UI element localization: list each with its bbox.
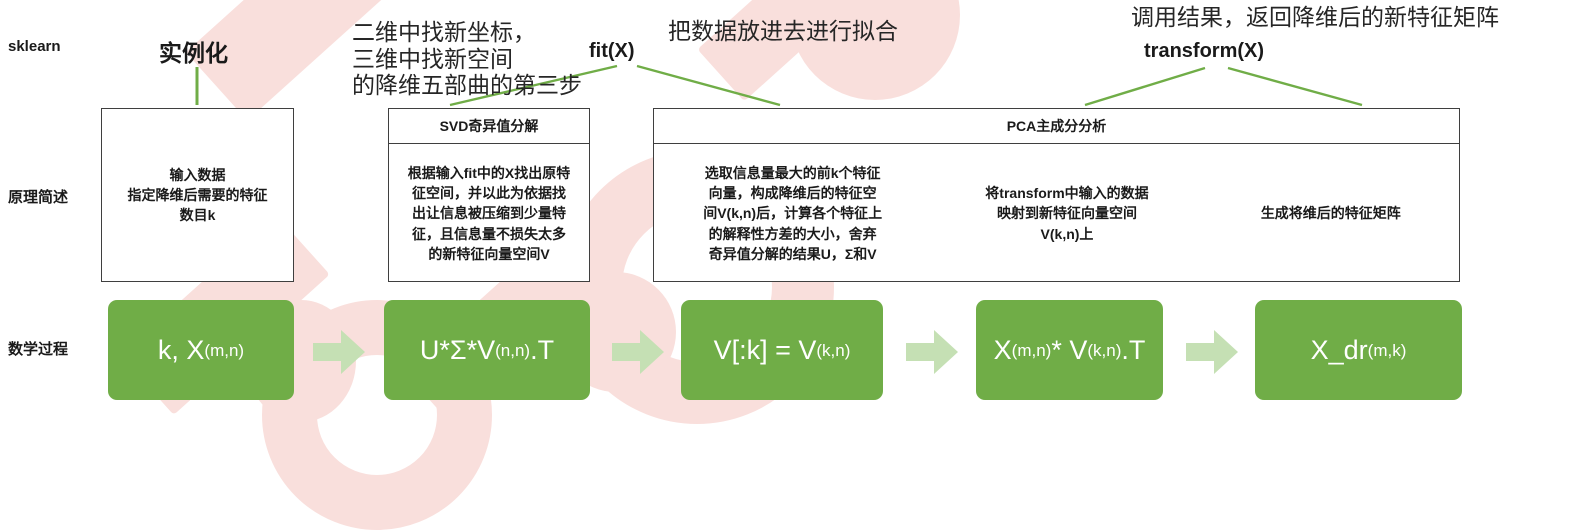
- math-step-1-sub: (m,n): [204, 342, 244, 359]
- arrow-4: [1186, 330, 1238, 374]
- math-step-1-main: k, X: [158, 337, 205, 364]
- math-step-4-main: X: [994, 337, 1012, 364]
- math-step-4-tail: .T: [1121, 337, 1145, 364]
- annotation-transform-call: transform(X): [1144, 40, 1264, 63]
- math-step-5-main: X_dr: [1311, 337, 1368, 364]
- math-step-3: V[:k] = V(k,n): [681, 300, 883, 400]
- math-step-2-main: U*Σ*V: [420, 337, 495, 364]
- principle-svd-header: SVD奇异值分解: [389, 109, 589, 144]
- arrow-1: [313, 330, 365, 374]
- diagram-canvas: sklearn 原理简述 数学过程 实例化 二维中找新坐标， 三维中找新空间 的…: [0, 0, 1587, 422]
- principle-svd-body: 根据输入fit中的X找出原特 征空间，并以此为依据找 出让信息被压缩到少量特 征…: [389, 144, 589, 283]
- arrow-2: [612, 330, 664, 374]
- annotation-fit-desc: 把数据放进去进行拟合: [668, 19, 898, 46]
- connector-fit-right: [637, 66, 780, 105]
- math-step-5: X_dr(m,k): [1255, 300, 1462, 400]
- arrow-3: [906, 330, 958, 374]
- connector-transform-left: [1085, 68, 1205, 105]
- row-label-principle: 原理简述: [8, 186, 68, 207]
- annotation-instantiate: 实例化: [159, 34, 228, 68]
- principle-pca-header: PCA主成分分析: [654, 109, 1459, 144]
- row-label-math: 数学过程: [8, 338, 68, 359]
- math-step-2: U*Σ*V(n,n).T: [384, 300, 590, 400]
- math-step-4-mid: * V: [1051, 337, 1087, 364]
- principle-pca-table: PCA主成分分析 选取信息量最大的前k个特征 向量，构成降维后的特征空 间V(k…: [653, 108, 1460, 282]
- principle-pca-cell-3: 生成将维后的特征矩阵: [1203, 144, 1459, 283]
- connector-transform-right: [1228, 68, 1362, 105]
- math-step-2-sub: (n,n): [495, 342, 530, 359]
- math-step-3-main: V[:k] = V: [714, 337, 817, 364]
- principle-input-box: 输入数据 指定降维后需要的特征 数目k: [101, 108, 294, 282]
- principle-svd-box: SVD奇异值分解 根据输入fit中的X找出原特 征空间，并以此为依据找 出让信息…: [388, 108, 590, 282]
- principle-input-text: 输入数据 指定降维后需要的特征 数目k: [102, 109, 293, 281]
- annotation-transform-note: 调用结果，返回降维后的新特征矩阵: [1131, 5, 1499, 32]
- math-step-5-sub: (m,k): [1368, 342, 1407, 359]
- row-label-sklearn: sklearn: [8, 38, 61, 55]
- math-step-2-tail: .T: [530, 337, 554, 364]
- principle-pca-cell-2: 将transform中输入的数据 映射到新特征向量空间 V(k,n)上: [931, 144, 1202, 283]
- math-step-3-sub: (k,n): [816, 342, 850, 359]
- math-step-4-sub: (m,n): [1012, 342, 1052, 359]
- annotation-fit-call: fit(X): [589, 40, 635, 63]
- math-step-1: k, X(m,n): [108, 300, 294, 400]
- annotation-fit-note: 二维中找新坐标， 三维中找新空间 的降维五部曲的第三步: [352, 20, 582, 100]
- principle-pca-cell-1: 选取信息量最大的前k个特征 向量，构成降维后的特征空 间V(k,n)后，计算各个…: [654, 144, 931, 283]
- principle-pca-cells: 选取信息量最大的前k个特征 向量，构成降维后的特征空 间V(k,n)后，计算各个…: [654, 144, 1459, 283]
- math-step-4-sub2: (k,n): [1087, 342, 1121, 359]
- math-step-4: X(m,n) * V(k,n).T: [976, 300, 1163, 400]
